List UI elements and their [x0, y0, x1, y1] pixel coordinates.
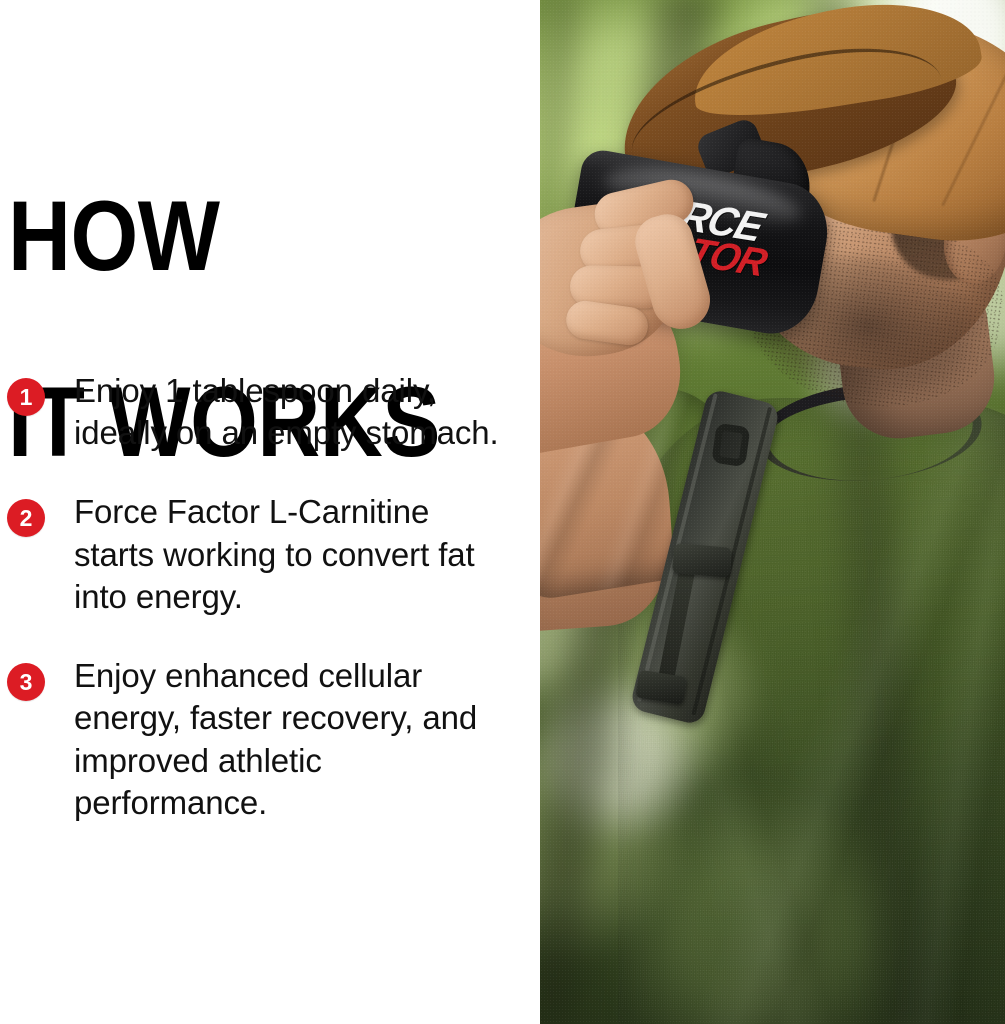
lifestyle-photo: FORCE FACTOR [540, 0, 1005, 1024]
text-panel: HOW IT WORKS 1 Enjoy 1 tablespoon daily,… [0, 0, 540, 1024]
how-it-works-infographic: HOW IT WORKS 1 Enjoy 1 tablespoon daily,… [0, 0, 1005, 1024]
headline-line-1: HOW [8, 189, 440, 282]
photo-vignette [540, 0, 1005, 1024]
step-number-badge: 2 [7, 499, 45, 537]
steps-list: 1 Enjoy 1 tablespoon daily, ideally on a… [0, 370, 540, 861]
list-item: 3 Enjoy enhanced cellular energy, faster… [0, 655, 540, 824]
step-text: Force Factor L-Carnitine starts working … [74, 491, 514, 618]
step-number-badge: 1 [7, 378, 45, 416]
step-text: Enjoy 1 tablespoon daily, ideally on an … [74, 370, 514, 454]
step-number-badge: 3 [7, 663, 45, 701]
list-item: 2 Force Factor L-Carnitine starts workin… [0, 491, 540, 618]
list-item: 1 Enjoy 1 tablespoon daily, ideally on a… [0, 370, 540, 454]
step-text: Enjoy enhanced cellular energy, faster r… [74, 655, 514, 824]
photo-stage: FORCE FACTOR [540, 0, 1005, 1024]
